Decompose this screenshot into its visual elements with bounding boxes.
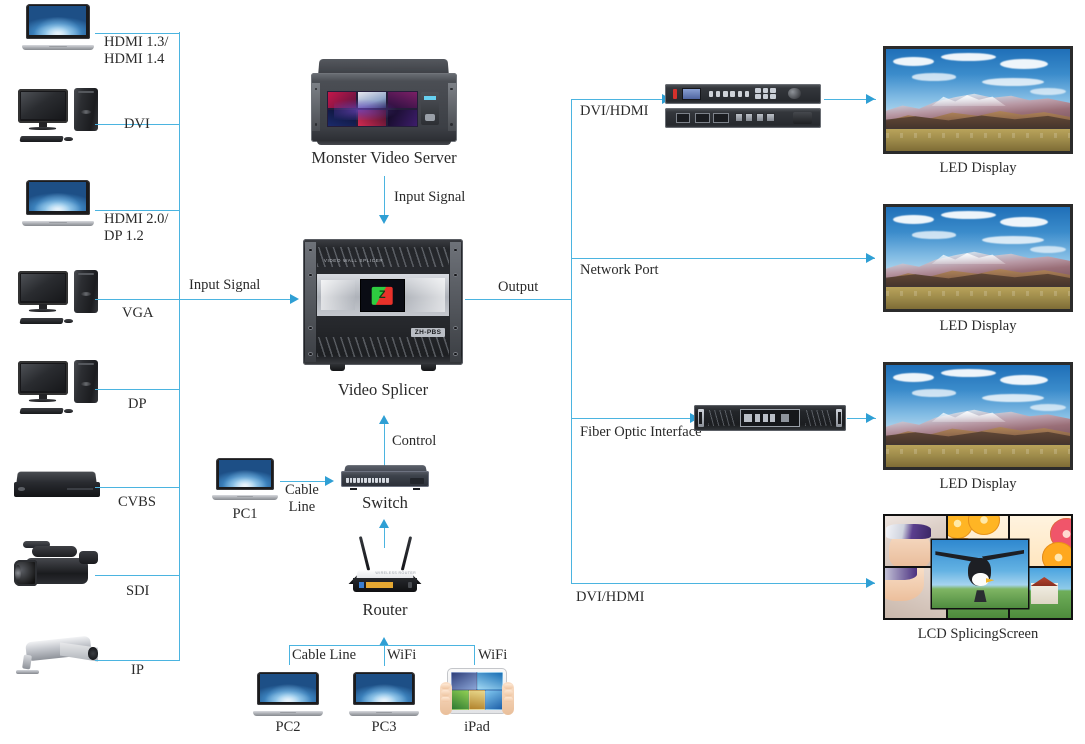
network-switch[interactable] — [341, 464, 429, 490]
switch-foot-right — [413, 488, 420, 490]
keyboard — [19, 318, 64, 324]
server-chassis — [311, 73, 457, 142]
control-device-pc3[interactable] — [349, 672, 419, 716]
splicer-logo — [372, 287, 393, 305]
rack-ear-left — [312, 83, 319, 131]
mouse — [64, 409, 73, 414]
grassland-field — [886, 445, 1070, 467]
router-wan-port — [359, 582, 363, 588]
camera-lens — [88, 647, 99, 659]
output-branch-arrow-4 — [866, 578, 875, 588]
controller-to-display-arrow-1 — [866, 94, 875, 104]
control-label: Control — [392, 433, 436, 449]
output-branch-arrow-2 — [866, 253, 875, 263]
monitor — [18, 271, 68, 304]
splicer-foot-right — [421, 364, 435, 370]
cable-line-text1: Cable — [285, 482, 319, 499]
rack-ear-right — [448, 83, 455, 131]
fiber-to-display-arrow — [866, 413, 875, 423]
output-interface-label-1: DVI/HDMI — [580, 103, 648, 119]
input-signal-label-3: HDMI 2.0/ DP 1.2 — [104, 211, 168, 244]
control-device-ipad[interactable] — [440, 666, 514, 718]
server-base — [317, 140, 451, 145]
output-branch-line-2 — [571, 258, 875, 259]
fiber-indicator-1 — [744, 414, 752, 422]
fiber-indicator-3 — [763, 414, 768, 422]
router-antenna-right — [400, 536, 411, 570]
cable-line-text2: Line — [285, 499, 319, 516]
laptop-lid — [26, 180, 89, 215]
video-wall-grid — [885, 516, 1071, 618]
monitor-foot — [29, 399, 56, 402]
laptop-screen — [260, 674, 315, 702]
fiber-indicator-2 — [755, 414, 760, 422]
input-device-ip-camera[interactable] — [14, 628, 102, 676]
controller-ethernet-port-2 — [745, 113, 753, 122]
hand-right — [502, 682, 514, 715]
laptop-screen — [219, 460, 271, 487]
signal-text-line1: HDMI 1.3/ — [104, 34, 168, 51]
pc3-label: PC3 — [349, 719, 419, 736]
input-branch-line-8 — [95, 660, 180, 661]
pc3-link-label: WiFi — [387, 647, 416, 663]
hand-left — [440, 682, 452, 715]
video-splicer-label: Video Splicer — [303, 380, 463, 400]
input-device-laptop-1[interactable] — [22, 4, 94, 50]
signal-text-line2: DP 1.2 — [104, 228, 168, 245]
mouse — [64, 319, 73, 324]
server-to-splicer-line — [384, 176, 385, 218]
laptop-lid — [353, 672, 415, 705]
camcorder-lens — [14, 560, 37, 586]
output-line — [465, 299, 572, 300]
controller-lcd-screen — [682, 88, 701, 100]
router-brand-marking: WIRELESS ROUTER — [375, 571, 416, 575]
camera-bracket — [22, 654, 32, 669]
controller-power-module — [793, 112, 812, 124]
monitor-foot — [29, 309, 56, 312]
server-to-splicer-arrow — [379, 215, 389, 224]
router-port-panel — [353, 578, 417, 592]
input-signal-label-5: DP — [128, 396, 147, 412]
input-signal-to-splicer-line — [179, 299, 293, 300]
diagram-canvas: HDMI 1.3/ HDMI 1.4 DVI HDMI 2.0/ DP 1.2 … — [0, 0, 1085, 744]
input-branch-line-7 — [95, 575, 180, 576]
control-arrow — [379, 415, 389, 424]
pc1-to-switch-arrow — [325, 476, 334, 486]
controller-rear-panel — [665, 108, 821, 128]
rack-rail-left — [305, 242, 316, 363]
switch-uplink-block — [410, 478, 424, 484]
server-preview-display — [327, 91, 418, 127]
camcorder-handle — [32, 546, 77, 557]
controller-ethernet-port-4 — [766, 113, 774, 122]
input-branch-line-4 — [95, 299, 180, 300]
output-branch-line-4 — [571, 583, 875, 584]
input-device-desktop-3[interactable] — [18, 360, 98, 414]
led-display-label-2: LED Display — [883, 318, 1073, 335]
input-device-laptop-2[interactable] — [22, 180, 94, 226]
ipad-screen — [451, 672, 503, 710]
output-branch-line-1 — [571, 99, 665, 100]
monitor-foot — [29, 127, 56, 130]
output-bus — [571, 99, 572, 584]
controller-front-panel — [665, 84, 821, 104]
router-antenna-left — [358, 536, 369, 570]
splicer-lcd-screen — [360, 279, 405, 312]
monitor-screen — [21, 274, 65, 301]
input-signal-bus-label: Input Signal — [189, 277, 260, 293]
led-display-label-3: LED Display — [883, 476, 1073, 493]
server-to-splicer-label: Input Signal — [394, 189, 465, 205]
video-splicer[interactable]: VIDEO WALL SPLICER ZH-PBS — [303, 239, 463, 365]
client-stub-pc3 — [384, 645, 385, 665]
router-lan-ports — [366, 582, 393, 588]
controller-vga-port — [713, 113, 729, 124]
fiber-chassis — [694, 405, 846, 431]
fiber-bracket-left — [698, 409, 704, 428]
pc2-label: PC2 — [253, 719, 323, 736]
controller-hdmi-port — [695, 113, 711, 124]
output-interface-label-4: DVI/HDMI — [576, 589, 644, 605]
monitor-screen — [21, 364, 65, 391]
monster-video-server-label: Monster Video Server — [284, 148, 484, 168]
fiber-optic-box[interactable] — [694, 405, 846, 431]
player-front-panel — [14, 482, 100, 496]
camera-base — [16, 670, 39, 674]
pc-tower — [74, 360, 98, 403]
ipad-link-label: WiFi — [478, 647, 507, 663]
rack-rail-right — [450, 242, 461, 363]
input-signal-arrow — [290, 294, 299, 304]
fiber-indicator-5 — [781, 414, 790, 422]
splicer-top-texture — [317, 247, 448, 267]
led-display-label-1: LED Display — [883, 160, 1073, 177]
laptop-screen — [29, 6, 86, 35]
input-device-desktop-2[interactable] — [18, 270, 98, 324]
fiber-front-window — [740, 409, 801, 427]
monitor-screen — [21, 92, 65, 119]
server-control-panel — [421, 92, 440, 125]
keyboard — [19, 136, 64, 142]
fiber-indicator-4 — [770, 414, 775, 422]
ipad-frame — [447, 668, 508, 714]
switch-foot-left — [350, 488, 357, 490]
output-interface-label-2: Network Port — [580, 262, 659, 278]
display-content — [886, 207, 1070, 309]
lcd-splicing-screen[interactable] — [883, 514, 1073, 620]
input-branch-line-6 — [95, 487, 180, 488]
monster-video-server[interactable] — [311, 58, 457, 142]
eagle-overlay-window — [932, 540, 1029, 607]
splicer-brand-badge: ZH-PBS — [411, 328, 446, 337]
switch-label: Switch — [335, 493, 435, 513]
input-signal-label-2: DVI — [124, 116, 150, 132]
led-controller[interactable] — [665, 84, 821, 128]
output-label: Output — [498, 279, 538, 295]
keyboard — [19, 408, 64, 414]
controller-ethernet-port-1 — [735, 113, 743, 122]
fiber-right-texture — [805, 410, 832, 426]
clients-bus-line — [289, 645, 475, 646]
signal-text-line2: HDMI 1.4 — [104, 51, 168, 68]
controller-knob — [788, 88, 800, 99]
splicer-model-marking: VIDEO WALL SPLICER — [324, 258, 383, 263]
grassland-field — [886, 129, 1070, 151]
display-content — [886, 365, 1070, 467]
led-display-2[interactable] — [883, 204, 1073, 312]
controller-keypad — [755, 88, 777, 101]
controller-dvi-port — [676, 113, 690, 124]
input-signal-label-1: HDMI 1.3/ HDMI 1.4 — [104, 34, 168, 67]
fiber-bracket-right — [836, 409, 842, 428]
input-signal-label-6: CVBS — [118, 494, 156, 510]
control-device-pc1[interactable] — [212, 458, 278, 500]
router-to-switch-arrow — [379, 519, 389, 528]
laptop-lid — [26, 4, 89, 39]
led-display-1[interactable] — [883, 46, 1073, 154]
pc2-link-label: Cable Line — [292, 647, 356, 663]
splicer-chassis: VIDEO WALL SPLICER ZH-PBS — [303, 239, 463, 365]
switch-port-row — [346, 478, 388, 483]
display-content — [886, 49, 1070, 151]
splicer-foot-left — [330, 364, 344, 370]
lcd-splicing-screen-label: LCD SplicingScreen — [883, 626, 1073, 643]
ipad-label: iPad — [440, 719, 514, 736]
client-stub-pc2 — [289, 645, 290, 665]
controller-button-row — [709, 90, 750, 97]
pc-tower — [74, 270, 98, 313]
laptop-lid — [257, 672, 319, 705]
mouse — [64, 137, 73, 142]
controller-ethernet-port-3 — [756, 113, 764, 122]
input-device-desktop-1[interactable] — [18, 88, 98, 142]
fiber-left-texture — [708, 410, 735, 426]
wifi-router[interactable]: WIRELESS ROUTER — [345, 536, 425, 598]
splicer-bottom-texture — [317, 337, 448, 357]
laptop-screen — [29, 182, 86, 211]
router-power-jack — [408, 582, 412, 588]
pc1-label: PC1 — [212, 506, 278, 523]
control-device-pc2[interactable] — [253, 672, 323, 716]
grassland-field — [886, 287, 1070, 309]
monitor — [18, 89, 68, 122]
input-signal-label-7: SDI — [126, 583, 149, 599]
led-display-3[interactable] — [883, 362, 1073, 470]
router-label: Router — [335, 600, 435, 620]
switch-front-panel — [341, 471, 429, 487]
camcorder-viewfinder — [79, 551, 99, 563]
pc1-to-switch-label: Cable Line — [285, 482, 319, 515]
laptop-lid — [216, 458, 274, 490]
input-signal-label-8: IP — [131, 662, 144, 678]
client-stub-ipad — [474, 645, 475, 665]
laptop-screen — [356, 674, 411, 702]
input-signal-bus — [179, 32, 180, 661]
input-device-camcorder[interactable] — [12, 538, 102, 594]
input-device-media-player[interactable] — [14, 466, 100, 500]
output-interface-label-3: Fiber Optic Interface — [580, 424, 702, 440]
monitor — [18, 361, 68, 394]
input-signal-label-4: VGA — [122, 305, 153, 321]
signal-text-line1: HDMI 2.0/ — [104, 211, 168, 228]
input-branch-line-5 — [95, 389, 180, 390]
output-branch-line-3 — [571, 418, 693, 419]
